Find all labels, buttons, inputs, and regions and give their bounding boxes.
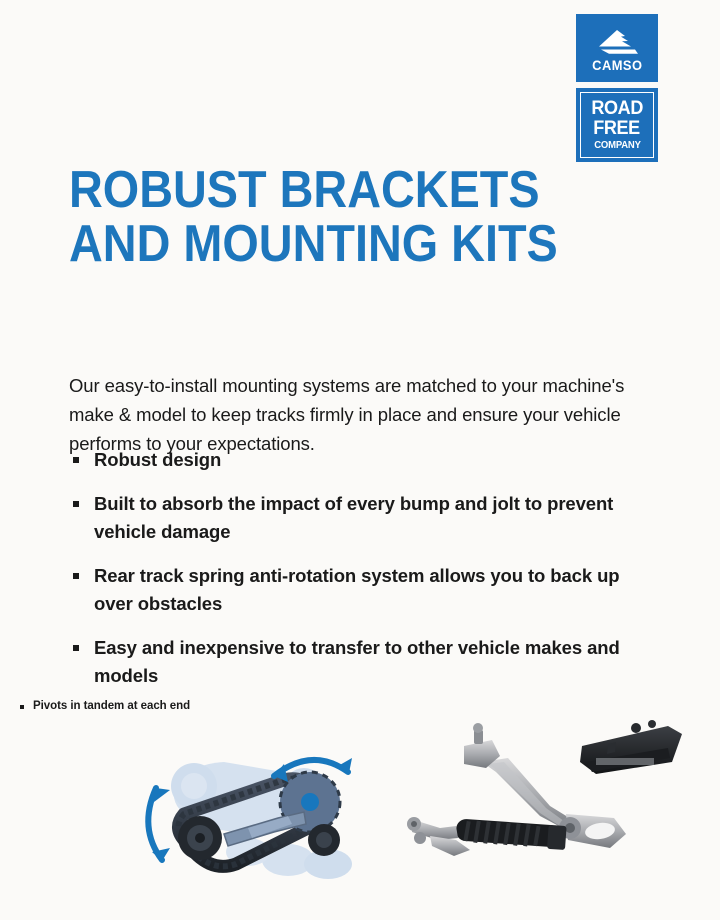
list-item-label: Rear track spring anti-rotation system a… [94,565,620,614]
bullet-square-icon [20,705,24,709]
feature-list: Robust design Built to absorb the impact… [69,446,639,706]
road-free-company-badge: ROAD FREE COMPANY [576,88,658,162]
list-item-label: Robust design [94,449,221,470]
camso-tree-chevron-icon [595,29,639,57]
list-item: Built to absorb the impact of every bump… [69,490,639,546]
intro-paragraph: Our easy-to-install mounting systems are… [69,371,629,458]
badge-line-road: ROAD [591,99,643,118]
mounting-bracket-hardware-photo [400,718,690,878]
bullet-square-icon [73,573,79,579]
black-mounting-bracket [580,720,682,774]
brand-logo-stack: CAMSO ROAD FREE COMPANY [576,14,658,162]
sprocket-hub [301,793,319,811]
figure-area [0,718,720,890]
bullet-square-icon [73,457,79,463]
spring-shock-assembly [407,817,567,856]
figure-caption: Pivots in tandem at each end [18,700,190,712]
bullet-square-icon [73,501,79,507]
list-item-label: Built to absorb the impact of every bump… [94,493,613,542]
camso-wordmark: CAMSO [592,58,642,72]
camso-logo-tile: CAMSO [576,14,658,82]
list-item-label: Easy and inexpensive to transfer to othe… [94,637,620,686]
rubber-track-system-pivot-diagram [128,732,390,890]
figure-caption-label: Pivots in tandem at each end [33,700,190,712]
page-title: ROBUST BRACKETS AND MOUNTING KITS [69,163,589,271]
page-title-line-1: ROBUST BRACKETS [69,163,537,217]
bullet-square-icon [73,645,79,651]
pivot-arrow-left-head-top [154,788,170,802]
list-item: Robust design [69,446,639,474]
list-item: Easy and inexpensive to transfer to othe… [69,634,639,690]
badge-line-company: COMPANY [594,141,641,151]
page-title-line-2: AND MOUNTING KITS [69,217,537,271]
badge-line-free: FREE [594,119,641,138]
list-item: Rear track spring anti-rotation system a… [69,562,639,618]
